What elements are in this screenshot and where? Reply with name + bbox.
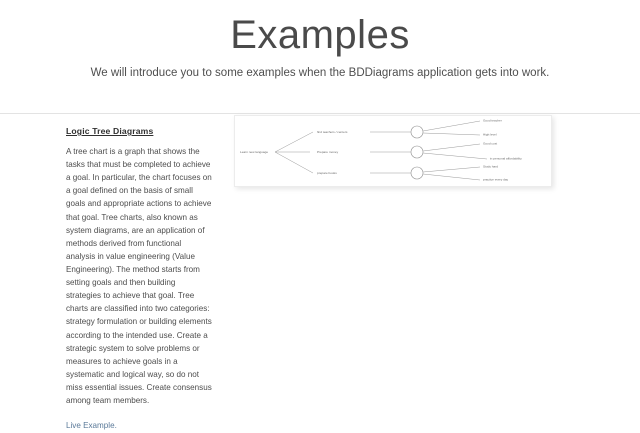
- diagram-node-1[interactable]: [411, 126, 423, 138]
- branch-3-leaf-line-2: [423, 174, 480, 180]
- diagram-leaf-label-2-2: in personal affordability: [490, 157, 522, 161]
- page-header: Examples We will introduce you to some e…: [0, 0, 640, 81]
- article-column: Logic Tree Diagrams A tree chart is a gr…: [66, 121, 212, 433]
- branch-2-leaf-line-1: [423, 144, 480, 151]
- diagram-branch-label-1: find teachers / centers: [317, 130, 348, 134]
- diagram-panel[interactable]: Learn new language find teachers / cente…: [234, 115, 552, 187]
- live-example-link[interactable]: Live Example.: [66, 421, 117, 430]
- diagram-branch-label-3: prepare books: [317, 171, 337, 175]
- diagram-leaf-label-3-2: practice every day: [483, 178, 509, 182]
- branch-3-leaf-line-1: [423, 167, 480, 172]
- diagram-node-2[interactable]: [411, 146, 423, 158]
- diagram-node-3[interactable]: [411, 167, 423, 179]
- branch-1-leaf-line-1: [423, 121, 480, 131]
- branch-1-leaf-line-2: [423, 133, 480, 135]
- article-heading-link[interactable]: Logic Tree Diagrams: [66, 126, 153, 136]
- content-area: Logic Tree Diagrams A tree chart is a gr…: [0, 114, 640, 400]
- branch-2-leaf-line-2: [423, 153, 487, 159]
- page-title: Examples: [0, 14, 640, 56]
- article-body-text: A tree chart is a graph that shows the t…: [66, 145, 212, 407]
- page-subtitle: We will introduce you to some examples w…: [0, 66, 640, 81]
- diagram-leaf-label-1-1: Good teacher: [483, 119, 502, 123]
- diagram-leaf-label-2-1: Good cost: [483, 142, 497, 146]
- root-branch-line-1: [275, 132, 313, 152]
- diagram-leaf-label-3-1: Study hard: [483, 165, 498, 169]
- logic-tree-diagram: Learn new language find teachers / cente…: [235, 116, 551, 186]
- diagram-leaf-label-1-2: High level: [483, 133, 497, 137]
- diagram-root-label: Learn new language: [240, 150, 268, 154]
- diagram-branch-label-2: Prepare money: [317, 150, 339, 154]
- root-branch-line-3: [275, 152, 313, 173]
